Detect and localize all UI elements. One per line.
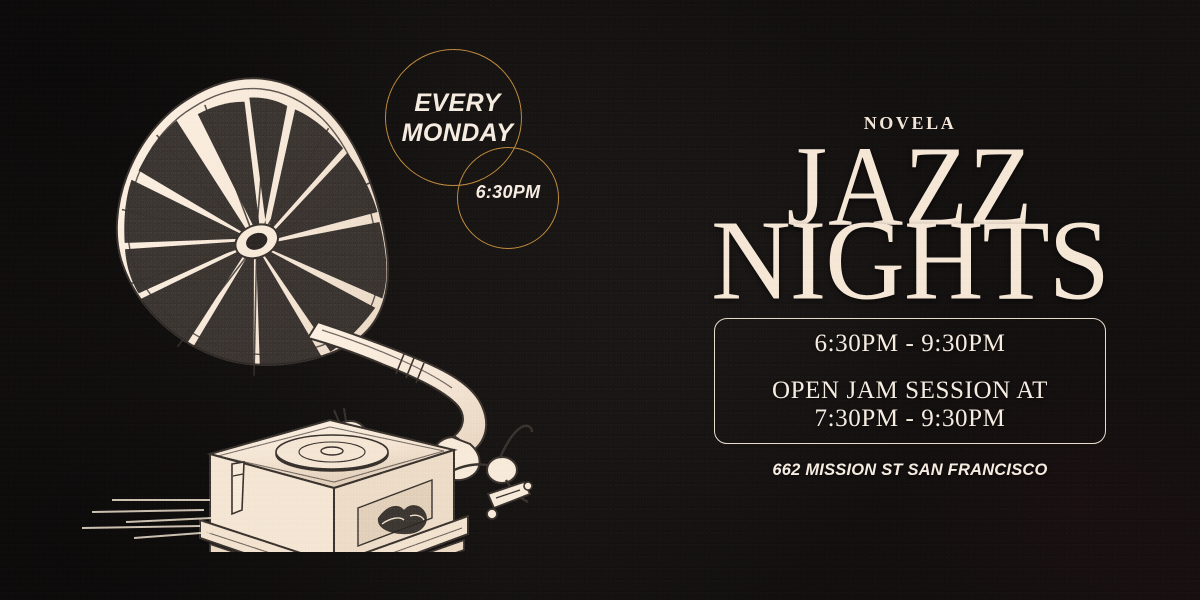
jazz-nights-poster: EVERY MONDAY 6:30PM NOVELA JAZZ NIGHTS 6…	[0, 0, 1200, 600]
film-grain-overlay-secondary	[0, 0, 1200, 600]
